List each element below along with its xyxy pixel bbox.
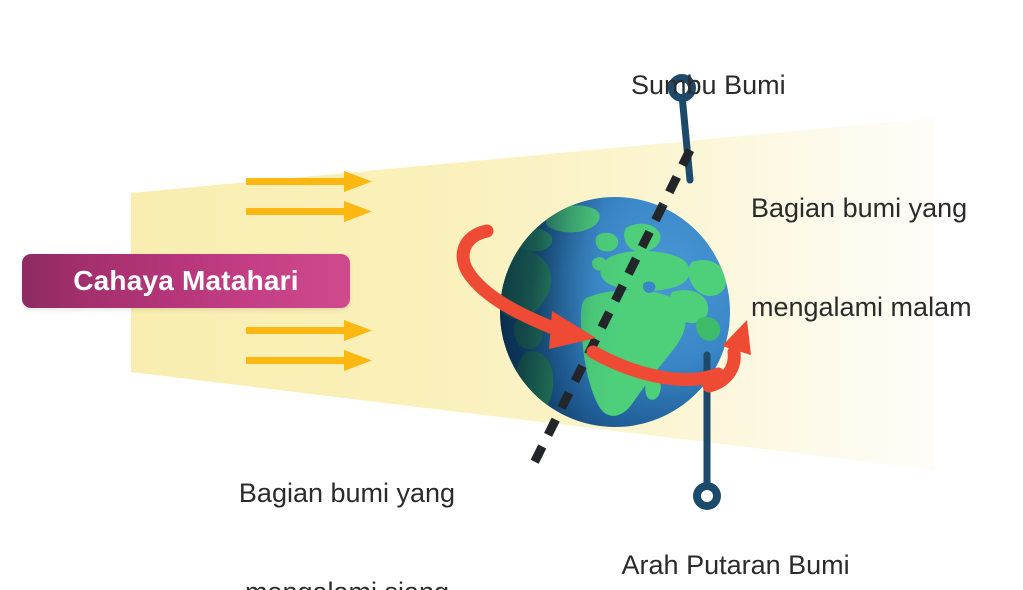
sunlight-badge-text: Cahaya Matahari [73, 265, 299, 297]
label-rotation-direction: Arah Putaran Bumi [593, 516, 850, 590]
label-day-line1: Bagian bumi yang [221, 477, 473, 510]
earth-rotation-diagram: Sumbu Bumi Bagian bumi yang mengalami ma… [0, 0, 1023, 590]
label-day-side: Bagian bumi yang mengalami siang [221, 411, 473, 590]
label-sumbu-bumi: Sumbu Bumi [601, 36, 786, 135]
label-night-line2: mengalami malam [751, 291, 972, 324]
sunlight-badge: Cahaya Matahari [22, 254, 350, 308]
label-day-line2: mengalami siang [221, 576, 473, 590]
label-sumbu-bumi-text: Sumbu Bumi [631, 70, 786, 100]
label-rotation-text: Arah Putaran Bumi [622, 550, 850, 580]
label-night-side: Bagian bumi yang mengalami malam [751, 126, 972, 390]
label-night-line1: Bagian bumi yang [751, 192, 972, 225]
